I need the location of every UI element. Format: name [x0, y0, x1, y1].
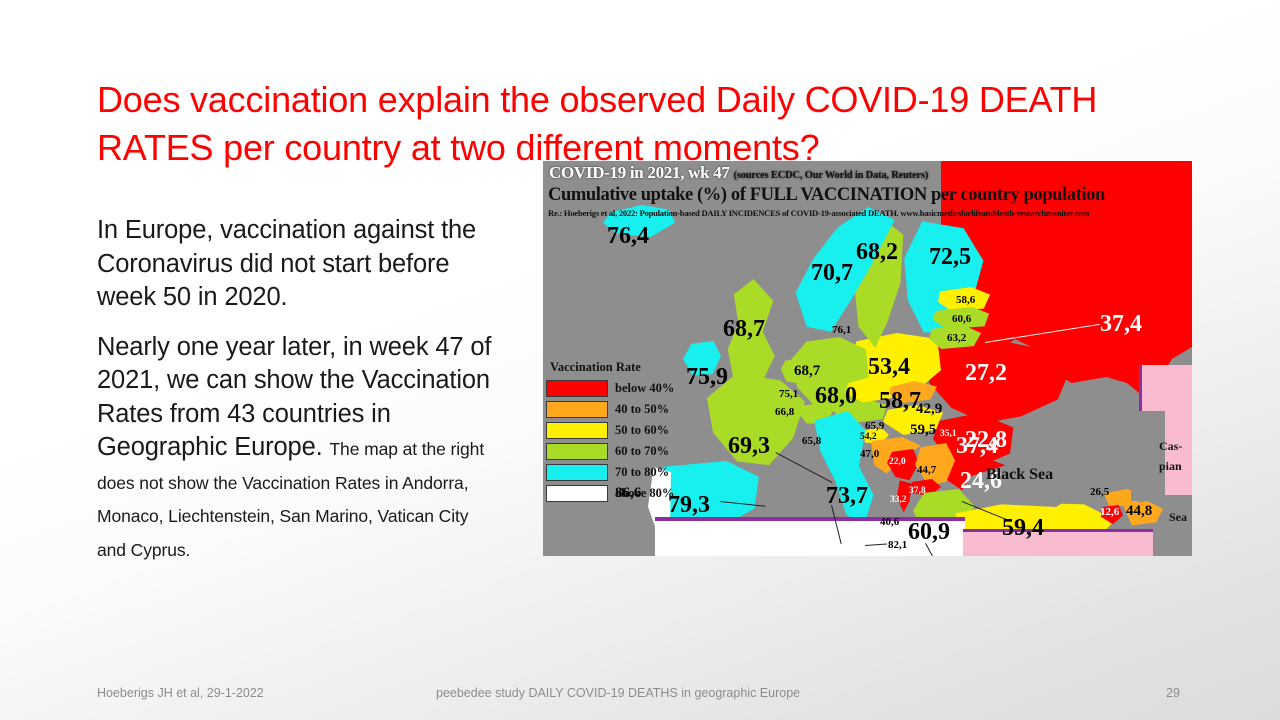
sea-label-caspian-2: pian — [1159, 459, 1182, 474]
map-value-czechia: 58,7 — [879, 388, 921, 415]
legend-label-70-80: 70 to 80% — [615, 465, 669, 480]
legend-swatch-50-60 — [546, 422, 608, 439]
legend-label-50-60: 50 to 60% — [615, 423, 669, 438]
sea-label-caspian-1: Cas- — [1159, 439, 1182, 454]
map-value-austria: 65,9 — [865, 420, 884, 432]
slide: Does vaccination explain the observed Da… — [0, 0, 1280, 720]
shape-caspian-sea — [1131, 411, 1165, 501]
slide-footer: Hoeberigs JH et al, 29-1-2022 peebedee s… — [0, 674, 1280, 720]
legend-item-60-70: 60 to 70% — [546, 441, 674, 462]
sea-label-black-sea: Black Sea — [986, 466, 1053, 484]
map-value-switzerland: 65,8 — [802, 435, 821, 447]
map-value-uk: 68,7 — [723, 316, 765, 343]
legend-swatch-below-40 — [546, 380, 608, 397]
map-value-hungary: 59,5 — [910, 422, 936, 439]
page-title: Does vaccination explain the observed Da… — [97, 76, 1157, 172]
map-value-slovenia: 54,2 — [860, 432, 877, 442]
map-value-belarus: 27,2 — [965, 360, 1007, 387]
map-value-azerbaijan: 44,8 — [1126, 503, 1152, 520]
legend-label-above-80: above 80% — [615, 486, 674, 501]
legend-label-below-40: below 40% — [615, 381, 674, 396]
map-value-turkey: 59,4 — [1002, 515, 1044, 542]
map-value-poland: 53,4 — [868, 354, 910, 381]
map-value-ireland-area: 75,9 — [686, 364, 728, 391]
map-value-sweden: 68,2 — [856, 239, 898, 266]
map-value-russia: 37,4 — [1100, 311, 1142, 338]
map-value-serbia: 44,7 — [917, 464, 936, 476]
legend-item-below-40: below 40% — [546, 378, 674, 399]
legend-swatch-above-80 — [546, 485, 608, 502]
map-value-denmark: 76,1 — [832, 324, 851, 336]
body-text-block: In Europe, vaccination against the Coron… — [97, 214, 497, 565]
legend-label-40-50: 40 to 50% — [615, 402, 669, 417]
map-value-norway: 70,7 — [811, 260, 853, 287]
map-value-malta: 82,1 — [888, 539, 907, 551]
legend-label-60-70: 60 to 70% — [615, 444, 669, 459]
paragraph-2: Nearly one year later, in week 47 of 202… — [97, 331, 497, 566]
legend-item-40-50: 40 to 50% — [546, 399, 674, 420]
map-header-title: COVID-19 in 2021, wk 47 (sources ECDC, O… — [549, 163, 928, 183]
europe-vaccination-map: COVID-19 in 2021, wk 47 (sources ECDC, O… — [543, 161, 1192, 556]
shape-middle-east — [963, 529, 1153, 556]
map-value-finland: 72,5 — [929, 244, 971, 271]
footer-center: peebedee study DAILY COVID-19 DEATHS in … — [436, 686, 800, 700]
map-value-ionian: 40,6 — [880, 516, 899, 528]
map-value-slovakia: 42,9 — [916, 401, 942, 418]
map-value-armenia: 12,6 — [1100, 506, 1119, 518]
map-legend: Vaccination Rate below 40% 40 to 50% 50 … — [546, 360, 674, 504]
map-value-albania: 33,2 — [890, 495, 907, 505]
legend-swatch-40-50 — [546, 401, 608, 418]
map-value-benelux: 66,8 — [775, 406, 794, 418]
paragraph-1: In Europe, vaccination against the Coron… — [97, 214, 497, 315]
legend-item-above-80: above 80% — [546, 483, 674, 504]
map-value-northsea-region: 68,7 — [794, 363, 820, 380]
map-value-north-macedonia: 37,8 — [909, 486, 926, 496]
map-value-latvia: 60,6 — [952, 313, 971, 325]
legend-item-50-60: 50 to 60% — [546, 420, 674, 441]
map-value-moldova: 35,1 — [940, 429, 957, 439]
map-header-sources: (sources ECDC, Our World in Data, Reuter… — [734, 170, 929, 181]
map-value-bosnia: 22,0 — [889, 457, 906, 467]
map-value-iceland: 76,4 — [607, 223, 649, 250]
footer-left: Hoeberigs JH et al, 29-1-2022 — [97, 686, 264, 700]
sea-label-caspian-3: Sea — [1169, 510, 1187, 525]
legend-title: Vaccination Rate — [550, 360, 674, 375]
map-value-romania: 37,4 — [956, 433, 998, 460]
legend-item-70-80: 70 to 80% — [546, 462, 674, 483]
map-value-ireland: 75,1 — [779, 388, 798, 400]
map-value-estonia: 58,6 — [956, 294, 975, 306]
legend-swatch-60-70 — [546, 443, 608, 460]
map-value-germany: 68,0 — [815, 383, 857, 410]
map-value-france: 69,3 — [728, 433, 770, 460]
map-header-reference: Re.: Hoeberigs et al, 2022: Population-b… — [548, 208, 1089, 218]
map-value-lithuania: 63,2 — [947, 332, 966, 344]
map-value-italy: 73,7 — [826, 483, 868, 510]
map-value-croatia: 47,0 — [860, 448, 879, 460]
footer-page-number: 29 — [1166, 686, 1180, 700]
map-value-greece: 60,9 — [908, 519, 950, 546]
legend-swatch-70-80 — [546, 464, 608, 481]
map-header-title-text: COVID-19 in 2021, wk 47 — [549, 163, 730, 182]
map-value-georgia: 26,5 — [1090, 486, 1109, 498]
map-header-subtitle: Cumulative uptake (%) of FULL VACCINATIO… — [548, 185, 1105, 206]
